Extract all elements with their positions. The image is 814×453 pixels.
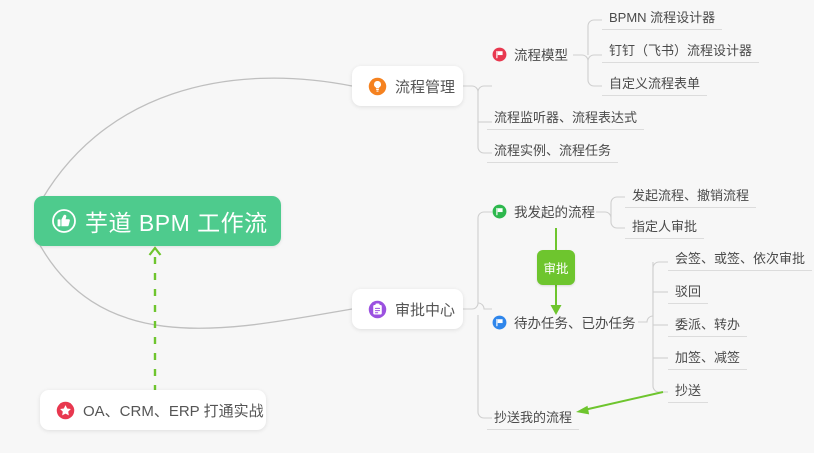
flag-icon <box>492 204 507 219</box>
connector-ac-to-cc-leaf <box>478 315 492 418</box>
clipboard-icon <box>368 300 387 319</box>
flag-icon <box>492 315 507 330</box>
sub-node-label: 流程模型 <box>514 44 568 64</box>
floating-node-label: OA、CRM、ERP 打通实战 <box>83 400 264 421</box>
thumbs-up-icon <box>52 209 76 233</box>
leaf-start-cancel-process[interactable]: 发起流程、撤销流程 <box>625 186 756 208</box>
leaf-cc[interactable]: 抄送 <box>668 381 708 403</box>
connector-pm-to-process-model <box>478 86 492 92</box>
leaf-custom-form[interactable]: 自定义流程表单 <box>602 74 707 96</box>
sub-node-label: 待办任务、已办任务 <box>514 312 636 332</box>
connector-mine-to-start <box>611 197 625 218</box>
leaf-reject[interactable]: 驳回 <box>668 282 708 304</box>
lightbulb-icon <box>368 77 387 96</box>
connector-ac-to-todo <box>478 303 492 309</box>
branch-process-management[interactable]: 流程管理 <box>352 66 463 106</box>
leaf-assignee-approval[interactable]: 指定人审批 <box>625 217 704 239</box>
connector-pm-model-spine <box>573 55 602 86</box>
connector-ac-spine <box>463 212 492 309</box>
leaf-cc-to-me[interactable]: 抄送我的流程 <box>487 408 579 430</box>
root-label: 芋道 BPM 工作流 <box>85 204 268 238</box>
connector-todo-spine-main <box>653 262 668 392</box>
leaf-countersign[interactable]: 会签、或签、依次审批 <box>668 249 812 271</box>
flag-icon <box>492 47 507 62</box>
annotation-chip-approval: 审批 <box>537 250 575 285</box>
annotation-line-cc <box>584 392 663 410</box>
leaf-delegate-transfer[interactable]: 委派、转办 <box>668 315 747 337</box>
connector-mine-spine <box>596 212 625 228</box>
star-icon <box>56 401 75 420</box>
annotation-arrowhead-integration <box>150 248 161 255</box>
leaf-process-instance[interactable]: 流程实例、流程任务 <box>487 141 618 163</box>
sub-node-todo-done-tasks[interactable]: 待办任务、已办任务 <box>492 312 636 332</box>
floating-node-integration-practice[interactable]: OA、CRM、ERP 打通实战 <box>40 390 266 430</box>
connector-root-to-process-management <box>36 78 352 210</box>
branch-label: 流程管理 <box>395 76 455 97</box>
sub-node-label: 我发起的流程 <box>514 201 595 221</box>
sub-node-my-initiated-process[interactable]: 我发起的流程 <box>492 201 595 221</box>
branch-label: 审批中心 <box>395 299 455 320</box>
branch-approval-center[interactable]: 审批中心 <box>352 289 463 329</box>
leaf-dingtalk-designer[interactable]: 钉钉（飞书）流程设计器 <box>602 41 759 63</box>
connector-pm-model-to-bpmn <box>588 55 602 61</box>
sub-node-process-model[interactable]: 流程模型 <box>492 44 568 64</box>
connector-pm-model-to-dingtalk <box>588 20 602 55</box>
connector-todo-spine <box>638 262 668 322</box>
leaf-add-remove-sign[interactable]: 加签、减签 <box>668 348 747 370</box>
connector-root-to-approval-center <box>36 238 352 328</box>
leaf-process-listener[interactable]: 流程监听器、流程表达式 <box>487 108 644 130</box>
root-node[interactable]: 芋道 BPM 工作流 <box>34 196 281 246</box>
mindmap-canvas: 芋道 BPM 工作流 流程管理 流程模型 BPMN 流程设计器 钉钉（飞书 <box>0 0 814 453</box>
leaf-bpmn-designer[interactable]: BPMN 流程设计器 <box>602 8 722 30</box>
